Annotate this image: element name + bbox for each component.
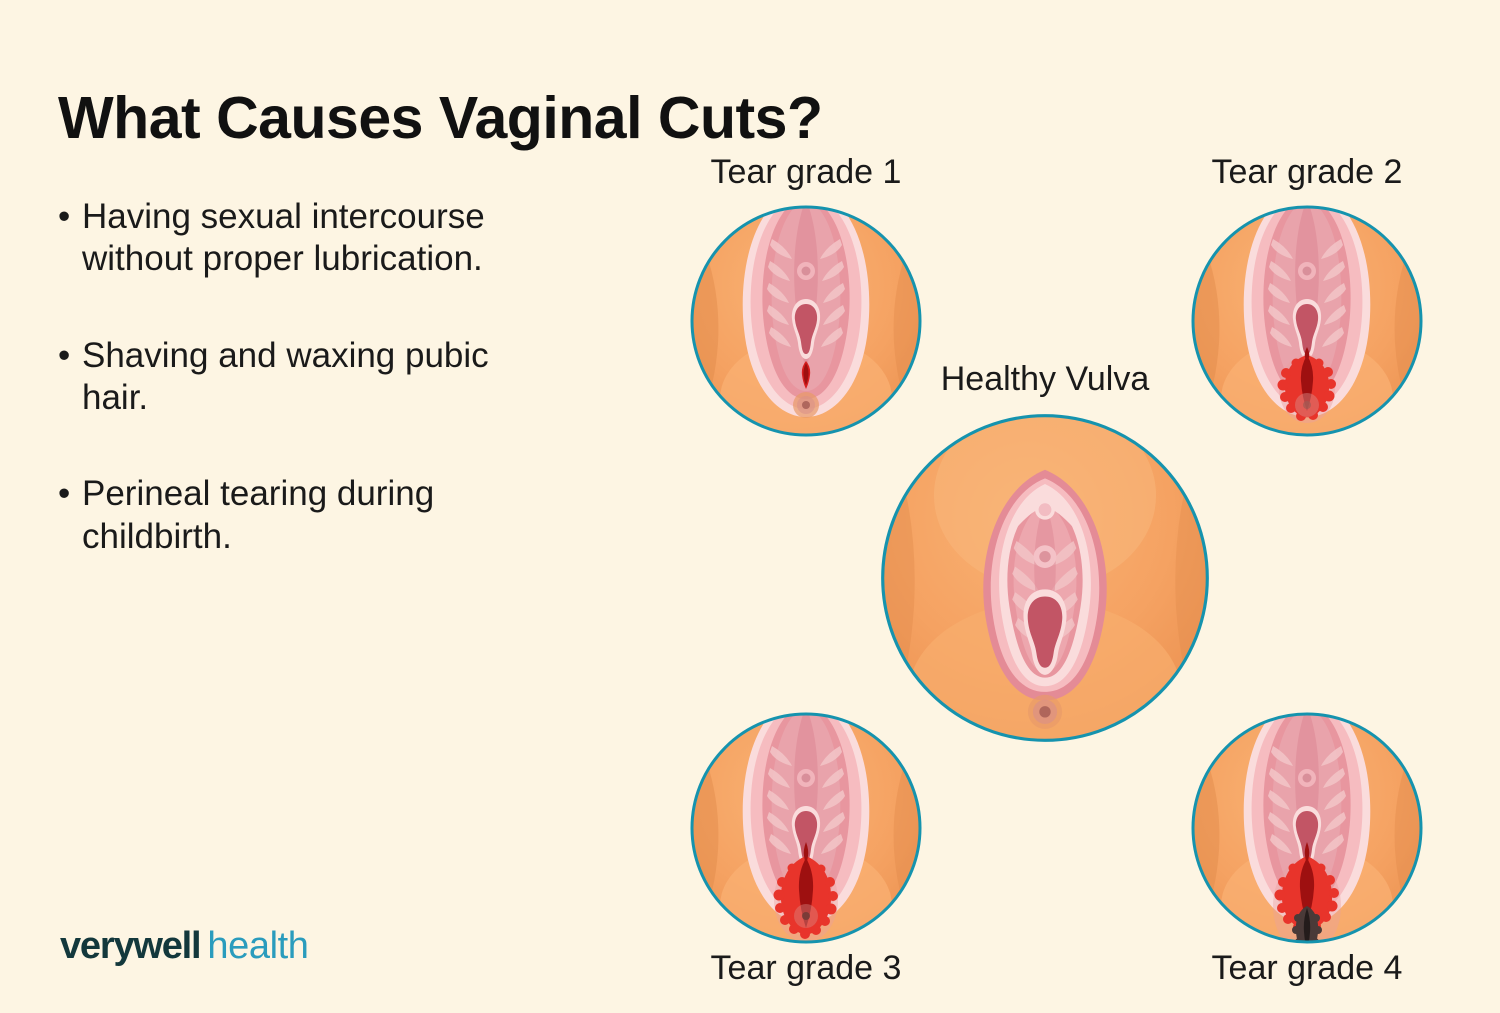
verywell-health-logo: verywell health (60, 925, 309, 968)
vulva-illustration-grade-4 (1189, 710, 1425, 946)
cause-text: Perineal tearing during childbirth. (82, 473, 558, 558)
vulva-illustration-healthy (877, 410, 1213, 746)
vulva-illustration-grade-3 (688, 710, 924, 946)
bullet-icon: • (58, 335, 82, 377)
bullet-icon: • (58, 473, 82, 515)
logo-primary-text: verywell (60, 925, 200, 968)
figure-label: Healthy Vulva (855, 362, 1235, 396)
logo-secondary-text: health (207, 925, 308, 968)
cause-text: Shaving and waxing pubic hair. (82, 335, 558, 420)
figure-tear-grade-4: Tear grade 4 (1167, 710, 1447, 985)
figure-label: Tear grade 4 (1167, 951, 1447, 985)
figure-label: Tear grade 2 (1167, 155, 1447, 189)
causes-list: • Having sexual intercourse without prop… (58, 196, 558, 558)
figure-tear-grade-3: Tear grade 3 (666, 710, 946, 985)
infographic-canvas: What Causes Vaginal Cuts? • Having sexua… (0, 0, 1500, 1013)
figure-label: Tear grade 1 (666, 155, 946, 189)
list-item: • Perineal tearing during childbirth. (58, 473, 558, 558)
illustration-panel: Tear grade 1 (640, 0, 1500, 1013)
figure-healthy-vulva: Healthy Vulva (855, 362, 1235, 747)
figure-label: Tear grade 3 (666, 951, 946, 985)
cause-text: Having sexual intercourse without proper… (82, 196, 558, 281)
text-panel: What Causes Vaginal Cuts? • Having sexua… (0, 0, 640, 1013)
list-item: • Shaving and waxing pubic hair. (58, 335, 558, 420)
bullet-icon: • (58, 196, 82, 238)
list-item: • Having sexual intercourse without prop… (58, 196, 558, 281)
